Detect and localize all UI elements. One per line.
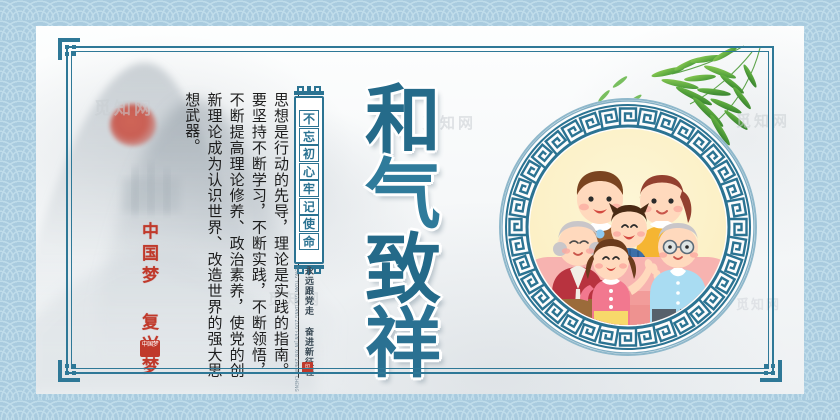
title-char: 和 — [365, 84, 441, 158]
plaque-char: 心 — [299, 163, 319, 180]
subline-seal-stamp: 印 — [302, 362, 313, 373]
title-char: 致 — [365, 233, 441, 307]
red-sun-icon — [110, 104, 156, 146]
subline-pinyin: YONG YUAN GEN DANG ZOU FEN JIN XIN ZHENG… — [294, 266, 299, 362]
family-illustration-medallion — [499, 98, 757, 356]
corner-ornament-bottom-left-icon — [58, 360, 80, 382]
plaque-characters: 不 忘 初 心 牢 记 使 命 — [297, 110, 321, 250]
corner-ornament-top-left-icon — [58, 38, 80, 60]
vertical-plaque-banner: 不 忘 初 心 牢 记 使 命 — [294, 96, 324, 264]
plaque-char: 初 — [299, 145, 319, 162]
plaque-char: 忘 — [299, 128, 319, 145]
page-title: 和 气 致 祥 — [348, 84, 458, 382]
plaque-char: 使 — [299, 215, 319, 232]
title-char: 气 — [365, 158, 441, 232]
plaque-char: 记 — [299, 198, 319, 215]
subline-slogan: 永远跟党走 奋进新征程 — [302, 266, 315, 362]
plaque-char: 牢 — [299, 180, 319, 197]
red-seal-stamp: 中国梦 — [140, 340, 160, 357]
poster-root: 觅知网 觅知网 觅知网 觅知网 觅知网 觅知网 中国梦 复兴梦 中国梦 思想是行… — [0, 0, 840, 420]
plaque-cap-top-icon — [294, 85, 324, 96]
poster-card: 觅知网 觅知网 觅知网 觅知网 觅知网 觅知网 中国梦 复兴梦 中国梦 思想是行… — [36, 26, 804, 394]
plaque-char: 不 — [299, 110, 319, 127]
family-photo — [530, 129, 726, 325]
title-char: 祥 — [365, 307, 441, 381]
corner-ornament-bottom-right-icon — [760, 360, 782, 382]
body-paragraph: 思想是行动的先导，理论是实践的指南。要坚持不断学习，不断实践，不断领悟，不断提高… — [164, 92, 299, 378]
red-slogan-calligraphy: 中国梦 复兴梦 — [136, 222, 161, 334]
plaque-char: 命 — [299, 233, 319, 250]
